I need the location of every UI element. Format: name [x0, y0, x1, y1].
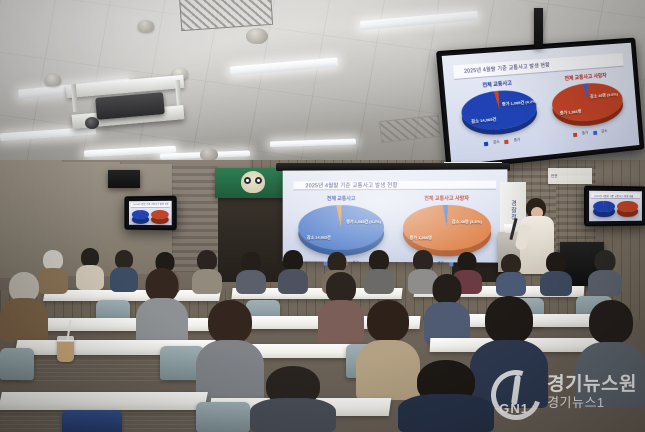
- attendee-body: [0, 298, 48, 342]
- attendee-body: [398, 394, 494, 432]
- attendee: [398, 360, 494, 432]
- ceiling-mounted-tv: 2025년 4월말 기준 교통사고 발생 현황 전체 교통사고 감소 14,06…: [436, 38, 644, 171]
- attendee-body: [110, 267, 138, 292]
- attendee-body: [236, 270, 266, 294]
- watermark-secondary: 경기뉴스1: [547, 396, 637, 410]
- slide-header-text: 2025년 4월말 기준 교통사고 발생 현황: [131, 203, 169, 206]
- slide-header-text: 2025년 4월말 기준 교통사고 발생 현황: [591, 193, 633, 197]
- pie-chart-fatalities: [617, 201, 638, 214]
- slide-content: 2025년 4월말 기준 교통사고 발생 현황: [129, 201, 172, 225]
- attendee: [588, 250, 622, 296]
- tv-screen: 2025년 4월말 기준 교통사고 발생 현황 전체 교통사고 감소 14,06…: [442, 43, 640, 165]
- attendee-head: [283, 250, 303, 271]
- slide-body: [129, 208, 172, 225]
- tv-ceiling-pole: [534, 8, 543, 48]
- attendee: [424, 274, 470, 344]
- attendee: [110, 250, 138, 292]
- chart-block-accidents: [592, 199, 615, 218]
- attendee-head: [501, 254, 521, 274]
- attendee: [136, 268, 188, 346]
- pie-chart-accidents: [132, 210, 149, 221]
- gn1-logo-icon: GN1: [487, 370, 541, 416]
- attendee-head: [433, 274, 462, 304]
- chair: [196, 402, 250, 432]
- attendee-head: [43, 250, 63, 270]
- attendee: [76, 248, 104, 290]
- chart-title: 전체 교통사고: [482, 79, 512, 88]
- lecture-hall-photo: 20 2025년 4월말 기준 교통사고 발생 현황 전체 교통사고 감소 14…: [0, 0, 645, 432]
- chart-title: 전체 교통사고 사망자: [424, 194, 469, 201]
- slide-body: 전체 교통사고 감소 14,065건 증가 1,085건 (4.2%) 감소 증…: [444, 68, 639, 165]
- iced-coffee-cup: [57, 336, 74, 362]
- slide-body: [589, 199, 642, 221]
- pie-3d-shape: [460, 87, 539, 133]
- chart-block-accidents: 전체 교통사고 감소 14,065건 증가 1,085건 (4.2%) 감소 증…: [452, 75, 546, 156]
- attendee-head: [589, 300, 633, 344]
- chart-block-fatalities: [616, 199, 638, 218]
- sprinkler-head: [45, 74, 61, 86]
- overhead-display-panel: [108, 170, 140, 188]
- attendee-head: [326, 272, 356, 303]
- attendee-body: [496, 272, 526, 296]
- attendee-body: [136, 298, 188, 346]
- attendee-head: [595, 250, 616, 272]
- chart-block-accidents: [131, 208, 149, 222]
- chart-legend: 감소 증가: [484, 138, 521, 147]
- legend-item: 감소: [601, 129, 607, 134]
- pie-chart-fatalities: [151, 210, 168, 221]
- tv-screen: 2025년 4월말 기준 교통사고 발생 현황: [589, 191, 642, 222]
- attendee: [236, 252, 266, 294]
- attendee: [192, 250, 222, 294]
- attendee-head: [546, 252, 566, 273]
- attendee-head: [146, 268, 179, 302]
- pie-label-accent: 증가 1,085건 (4.2%): [346, 220, 381, 225]
- attendee-body: [76, 265, 104, 290]
- desk: [27, 318, 223, 331]
- slide-header-text: 2025년 4월말 기준 교통사고 발생 현황: [294, 181, 398, 189]
- attendee-head: [413, 250, 433, 271]
- pie-3d-shape: [151, 210, 168, 220]
- projector-lens-icon: [85, 117, 99, 129]
- attendee-head: [197, 250, 217, 271]
- attendee-head: [458, 252, 477, 272]
- right-wall-tv: 2025년 4월말 기준 교통사고 발생 현황: [584, 186, 645, 227]
- pie-3d-shape: [298, 205, 384, 250]
- legend-item: 증가: [582, 131, 589, 137]
- chart-legend: 증가 감소: [573, 129, 607, 137]
- attendee-body: [250, 398, 336, 432]
- sprinkler-head: [138, 20, 154, 32]
- pie-3d-shape: [593, 201, 614, 213]
- attendee-body: [192, 269, 222, 294]
- attendee: [250, 366, 336, 432]
- watermark: GN1 경기뉴스원 경기뉴스1: [487, 370, 637, 416]
- watermark-text: 경기뉴스원 경기뉴스1: [547, 375, 637, 410]
- chair: [62, 410, 122, 432]
- pie-3d-shape: [403, 204, 491, 250]
- owl-mascot-icon: [241, 171, 265, 193]
- chair: [0, 348, 34, 380]
- left-wall-tv: 2025년 4월말 기준 교통사고 발생 현황: [124, 196, 176, 231]
- slide-header: 2025년 4월말 기준 교통사고 발생 현황: [294, 181, 496, 191]
- chart-block-fatalities: 전체 교통사고 사망자 증가 1,366명 감소 48명 (3.6%) 증가 감…: [543, 69, 631, 147]
- attendee: [0, 272, 48, 342]
- pie-chart-fatalities: 증가 1,366명 감소 48명 (3.6%): [550, 80, 625, 131]
- ceiling-speaker: [246, 28, 268, 44]
- pie-label-accent: 감소 48명 (3.6%): [452, 220, 482, 225]
- attendee-head: [208, 300, 252, 344]
- attendee: [540, 252, 572, 296]
- slide-content: 2025년 4월말 기준 교통사고 발생 현황 전체 교통사고 감소 14,06…: [283, 169, 508, 262]
- pie-label-primary: 감소 14,065건: [307, 236, 331, 241]
- attendee-head: [367, 300, 409, 342]
- pie-3d-shape: [550, 80, 624, 124]
- watermark-primary: 경기뉴스원: [547, 375, 637, 396]
- pie-chart-accidents: [593, 201, 614, 215]
- wall-sign-right-text: 안전: [551, 174, 589, 179]
- legend-item: 증가: [514, 138, 521, 144]
- legend-item: 감소: [493, 140, 500, 146]
- attendee-head: [328, 252, 347, 272]
- attendee-head: [241, 252, 261, 272]
- attendee-body: [364, 269, 394, 294]
- tv-screen: 2025년 4월말 기준 교통사고 발생 현황: [129, 201, 172, 225]
- attendee-body: [540, 271, 572, 296]
- chart-block-fatalities: [150, 208, 169, 223]
- legend-item: 증가: [438, 262, 445, 267]
- slide-header-text: 2025년 4월말 기준 교통사고 발생 현황: [453, 61, 550, 75]
- wall-sign-right: 안전: [548, 168, 592, 184]
- pie-3d-shape: [132, 210, 149, 219]
- attendee-head: [485, 296, 533, 344]
- attendee-head: [369, 250, 389, 271]
- pie-chart-accidents: 감소 14,065건 증가 1,085건 (4.2%): [460, 87, 539, 139]
- chart-title: 전체 교통사고 사망자: [564, 72, 607, 82]
- legend-item: 증가: [352, 261, 358, 266]
- projection-screen: 2025년 4월말 기준 교통사고 발생 현황 전체 교통사고 감소 14,06…: [283, 169, 508, 262]
- logo-text: GN1: [487, 401, 541, 416]
- pie-3d-shape: [617, 201, 638, 213]
- pie-label-primary: 증가 1,366명: [410, 236, 432, 241]
- slide-content: 2025년 4월말 기준 교통사고 발생 현황 전체 교통사고 감소 14,06…: [442, 43, 640, 165]
- slide-content: 2025년 4월말 기준 교통사고 발생 현황: [589, 191, 642, 222]
- attendee: [496, 254, 526, 296]
- attendee: [364, 250, 394, 294]
- attendee: [278, 250, 308, 294]
- chart-title: 전체 교통사고: [327, 195, 356, 202]
- attendee-body: [588, 270, 622, 296]
- attendee-body: [278, 269, 308, 294]
